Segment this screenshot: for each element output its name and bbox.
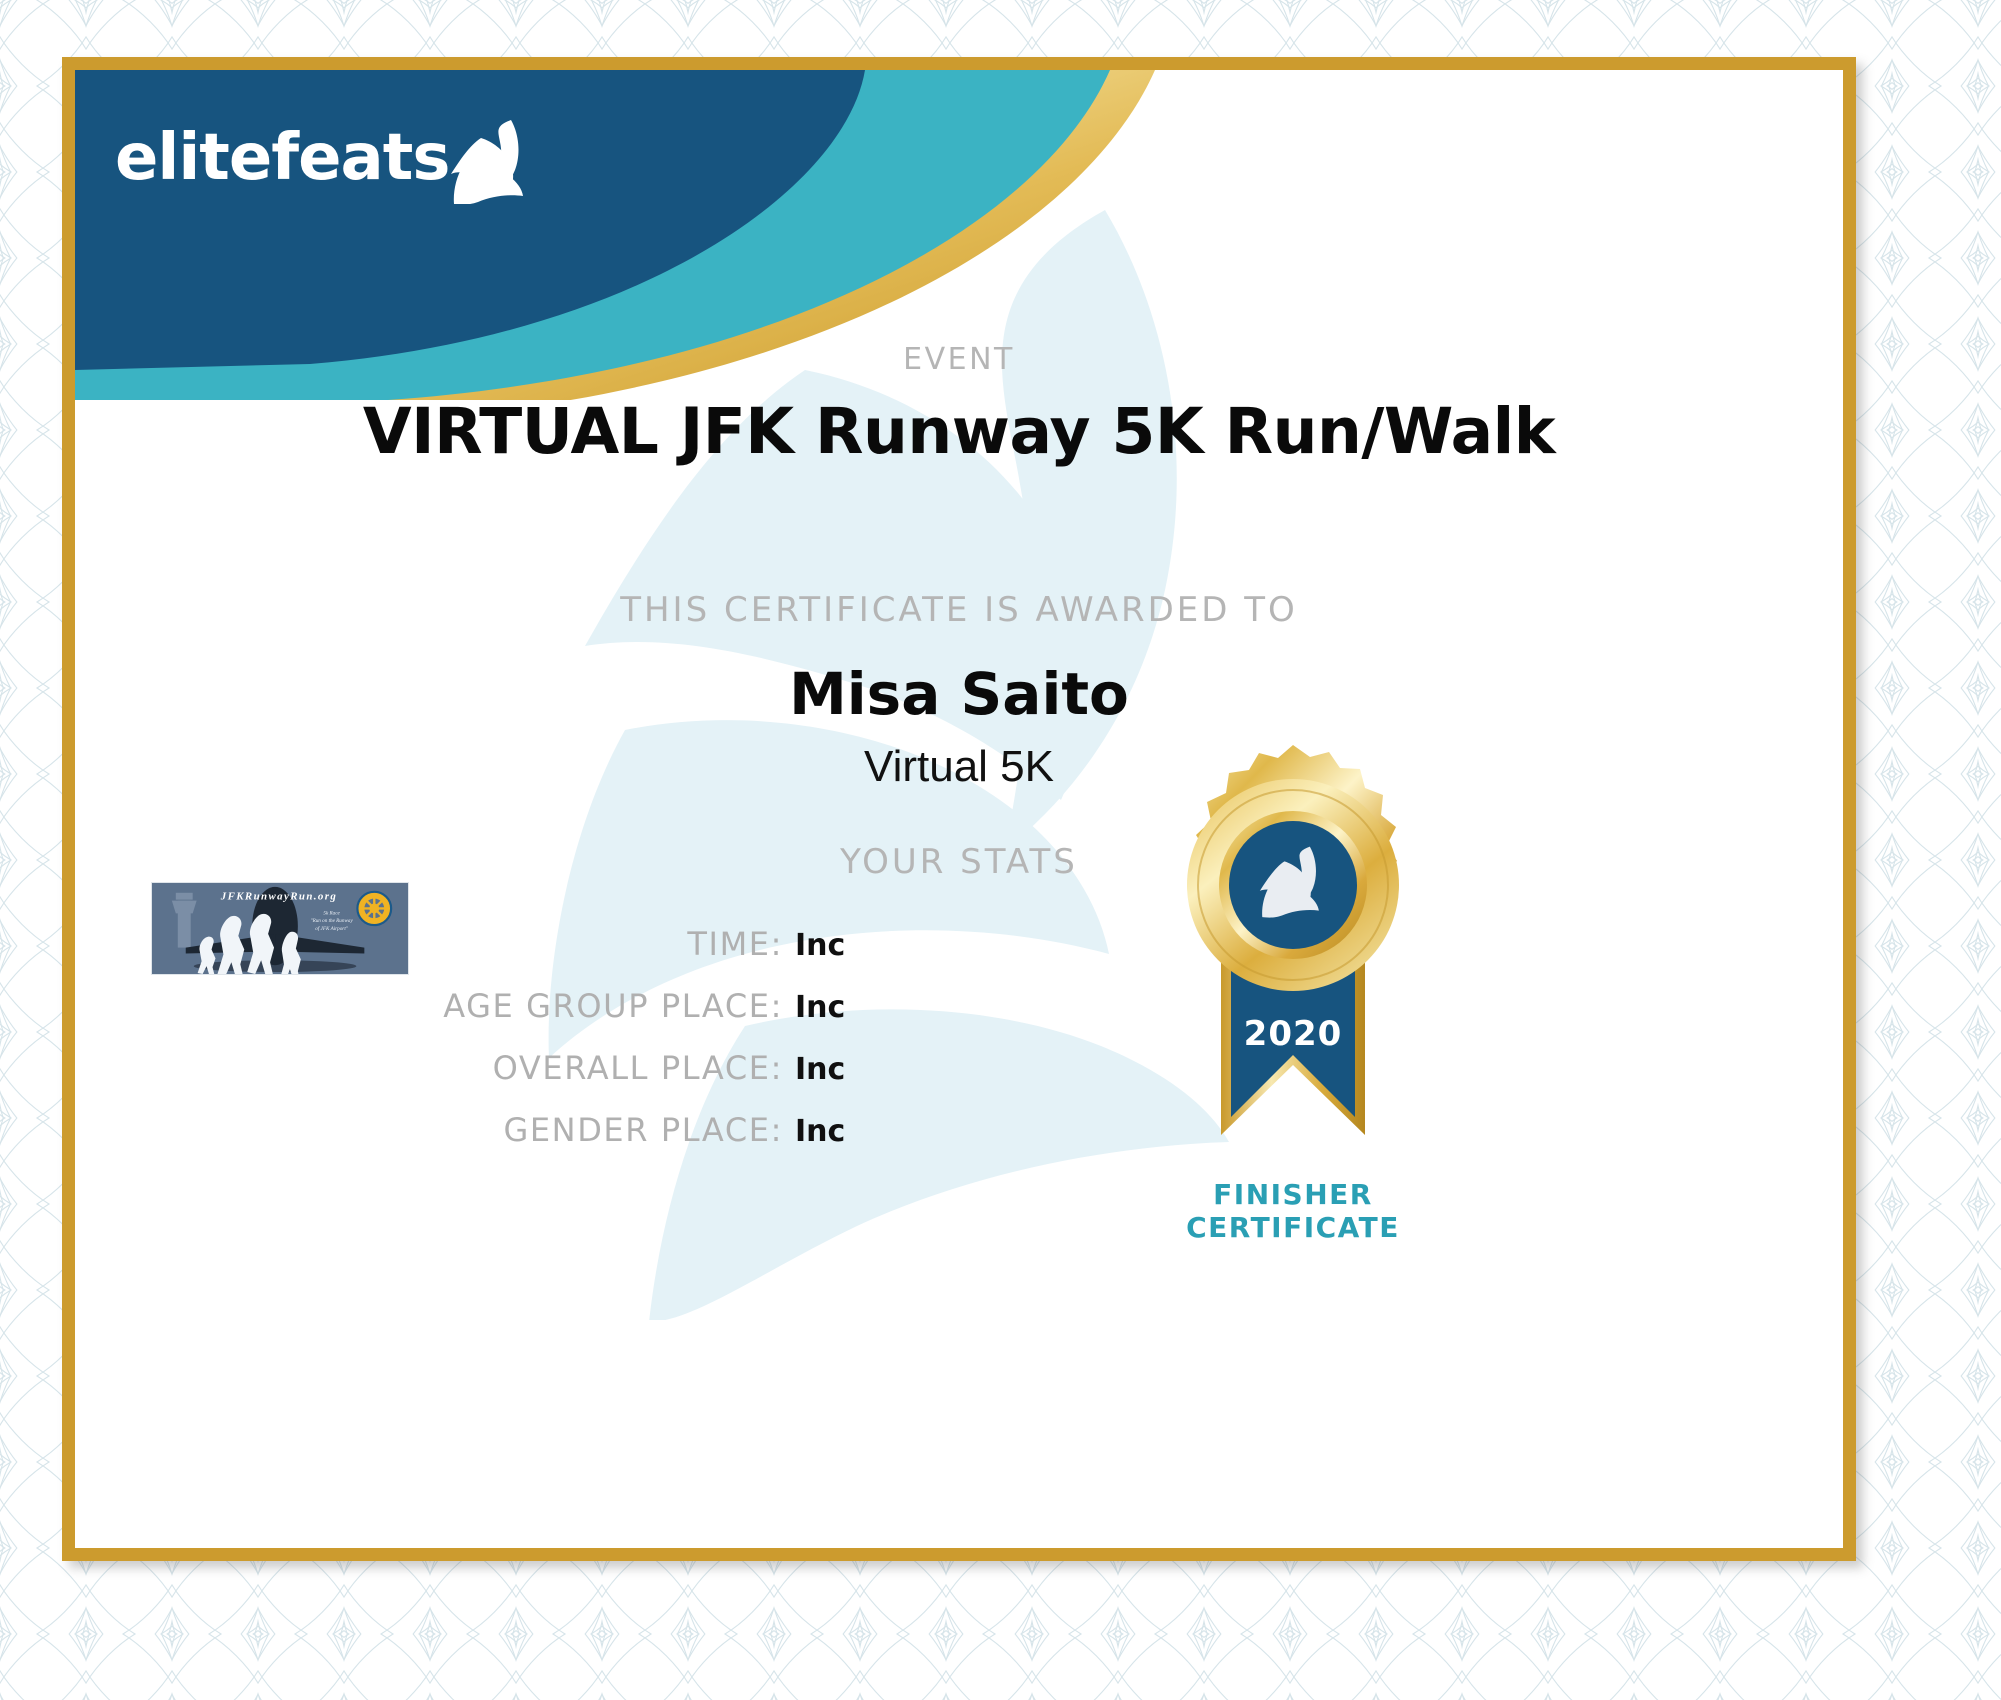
stat-value: Inc bbox=[795, 928, 845, 963]
badge-caption: FINISHER CERTIFICATE bbox=[1143, 1178, 1443, 1244]
rotary-wheel-icon bbox=[357, 892, 391, 925]
brand-logo: elitefeats bbox=[115, 118, 529, 190]
your-stats-label: YOUR STATS bbox=[75, 842, 1843, 882]
recipient-name: Misa Saito bbox=[75, 660, 1843, 728]
svg-text:5k Race: 5k Race bbox=[323, 910, 340, 916]
awarded-to-label: THIS CERTIFICATE IS AWARDED TO bbox=[75, 590, 1843, 630]
winged-foot-icon bbox=[451, 118, 529, 204]
certificate-page: elitefeats EVENT VIRTUAL JFK Runway 5K R… bbox=[0, 0, 2001, 1700]
stat-row-age-group-place: AGE GROUP PLACE: Inc bbox=[75, 987, 1843, 1049]
badge-year: 2020 bbox=[1244, 1014, 1343, 1054]
certificate-content: EVENT VIRTUAL JFK Runway 5K Run/Walk THI… bbox=[75, 70, 1843, 1548]
stat-value: Inc bbox=[795, 990, 845, 1025]
sponsor-logo-jfk-runway-run: JFKRunwayRun.org 5k Race "Run on the Run… bbox=[151, 882, 409, 975]
recipient-division: Virtual 5K bbox=[75, 742, 1843, 792]
stat-key: OVERALL PLACE: bbox=[75, 1049, 783, 1087]
badge-caption-line1: FINISHER bbox=[1143, 1178, 1443, 1211]
svg-text:of JFK Airport": of JFK Airport" bbox=[315, 925, 349, 932]
event-title: VIRTUAL JFK Runway 5K Run/Walk bbox=[75, 395, 1843, 468]
brand-name: elitefeats bbox=[115, 126, 449, 190]
stat-row-overall-place: OVERALL PLACE: Inc bbox=[75, 1049, 1843, 1111]
badge-caption-line2: CERTIFICATE bbox=[1143, 1211, 1443, 1244]
badge-medal bbox=[1187, 745, 1399, 991]
svg-text:"Run on the Runway: "Run on the Runway bbox=[310, 918, 353, 924]
event-label: EVENT bbox=[75, 342, 1843, 377]
certificate-card: elitefeats EVENT VIRTUAL JFK Runway 5K R… bbox=[62, 57, 1856, 1561]
stat-value: Inc bbox=[795, 1052, 845, 1087]
stat-value: Inc bbox=[795, 1114, 845, 1149]
stat-row-gender-place: GENDER PLACE: Inc bbox=[75, 1111, 1843, 1173]
finisher-medal-badge: 2020 bbox=[1143, 735, 1443, 1215]
stat-key: GENDER PLACE: bbox=[75, 1111, 783, 1149]
svg-text:JFKRunwayRun.org: JFKRunwayRun.org bbox=[220, 891, 337, 903]
stat-key: AGE GROUP PLACE: bbox=[75, 987, 783, 1025]
